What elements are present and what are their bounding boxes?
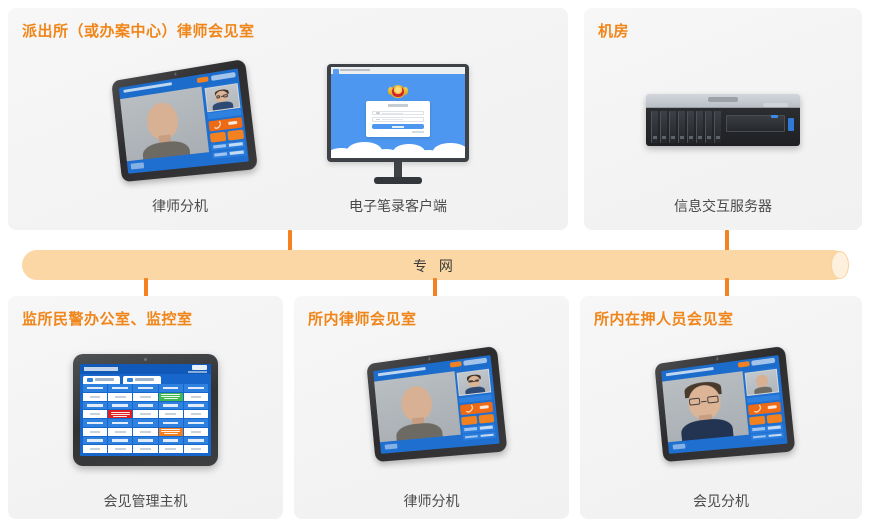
seat-cell[interactable] [184,445,208,453]
remote-name-label [672,443,685,449]
remote-party-video [374,371,461,442]
seat-header[interactable] [83,402,107,410]
seat-cell[interactable] [159,410,183,418]
tablet-device [366,346,507,462]
drive-bay-array [651,111,722,143]
panel-inner-detainee-room: 所内在押人员会见室 [580,296,862,519]
person-head [756,375,769,388]
seat-status-grid [83,384,208,453]
remote-name-label [384,443,397,449]
video-call-sidebar [455,366,500,447]
seat-cell[interactable] [184,393,208,401]
police-emblem-icon [389,82,407,101]
seat-header[interactable] [83,419,107,427]
monitor-frame [327,64,469,162]
seat-cell[interactable] [83,393,107,401]
tablet-screen [118,68,249,174]
seat-cell[interactable] [108,428,132,436]
seat-header[interactable] [108,437,132,445]
seat-header[interactable] [83,384,107,392]
monitor-stand-neck [394,162,403,178]
server-badge-icon [771,115,779,119]
seat-header[interactable] [159,384,183,392]
connector-police-station-up [288,230,292,252]
device-lawyer-extension-bottom: 律师分机 [304,351,559,501]
info-row-remaining [463,432,496,441]
seat-cell[interactable] [108,445,132,453]
seat-header[interactable] [133,402,157,410]
tablet-screen [80,364,211,456]
panel-title-police-station: 派出所（或办案中心）律师会见室 [22,20,255,41]
drive-bay [687,111,694,143]
hangup-label [480,405,489,409]
self-view-thumbnail [457,369,492,396]
monitor-screen [331,67,466,157]
hangup-button[interactable] [748,401,782,414]
remote-person-avatar [676,380,735,442]
login-form [366,101,431,137]
username-field[interactable] [372,111,424,116]
seat-cell-waiting-orange[interactable] [159,428,183,436]
seat-header[interactable] [184,419,208,427]
remote-name-label [131,163,144,170]
drive-bay [660,111,667,143]
app-title [84,367,118,371]
seat-cell[interactable] [83,445,107,453]
device-lawyer-extension-top: 律师分机 [100,60,260,190]
monitor-device [327,64,469,186]
drive-bay [678,111,685,143]
seat-cell[interactable] [133,393,157,401]
tablet-screen [661,355,787,454]
hangup-label [228,121,237,125]
password-field[interactable] [372,117,424,122]
tablet-device [111,59,258,182]
clock-time [192,365,207,369]
seat-header[interactable] [108,419,132,427]
drive-bay [651,111,658,143]
seat-cell[interactable] [159,445,183,453]
forgot-password-link[interactable] [412,131,424,134]
caption-meeting-extension: 会见分机 [590,491,852,511]
tablet-camera-icon [144,358,147,361]
drive-bay [669,111,676,143]
pipe-end-cap [831,251,849,279]
panel-police-station: 派出所（或办案中心）律师会见室 [8,8,568,230]
info-row-remaining [751,432,784,441]
tablet-device [654,346,795,462]
management-tablet-device [73,354,218,466]
video-call-sidebar [743,366,788,447]
cloud-decoration [331,138,466,158]
mute-button[interactable] [749,415,765,425]
panel-title-police-office: 监所民警办公室、监控室 [22,308,193,329]
extend-button[interactable] [767,413,783,423]
seat-header[interactable] [184,402,208,410]
seat-header[interactable] [159,437,183,445]
seat-header[interactable] [133,419,157,427]
panel-machine-room: 机房 信息交互服务器 [584,8,862,230]
seat-cell[interactable] [133,445,157,453]
caption-meeting-management-host: 会见管理主机 [18,491,273,511]
caption-info-exchange-server: 信息交互服务器 [613,196,833,216]
private-network-bus: 专 网 [22,250,848,280]
call-toolbar-label [210,72,235,81]
panel-title-inner-lawyer-room: 所内律师会见室 [308,308,417,329]
phone-hangup-icon [754,404,762,413]
seat-header[interactable] [108,402,132,410]
seat-header[interactable] [184,384,208,392]
seat-cell[interactable] [133,410,157,418]
call-toolbar-label [751,358,775,366]
monitor-stand-base [374,177,422,184]
tab-bar [83,376,208,384]
hangup-label [768,405,777,409]
lock-icon [376,119,380,120]
caption-e-record-client: 电子笔录客户端 [308,196,488,216]
browser-tab-title [340,69,370,71]
extend-button[interactable] [227,130,244,141]
clock-widget [181,365,207,372]
server-top-label [708,97,739,102]
device-meeting-extension: 会见分机 [590,351,852,501]
call-toolbar-label [463,358,487,366]
login-submit-button[interactable] [372,124,424,129]
server-handle [763,103,788,107]
network-label: 专 网 [22,256,848,276]
device-meeting-management-host: 会见管理主机 [18,351,273,501]
seat-header[interactable] [108,384,132,392]
remote-person-avatar [136,99,194,162]
tab-meeting-seats[interactable] [83,376,121,384]
phone-hangup-icon [214,120,223,130]
call-status-badge [738,361,749,368]
hangup-button[interactable] [460,401,494,414]
extend-button[interactable] [479,413,495,423]
device-e-record-client: 电子笔录客户端 [308,60,488,190]
seat-cell-active-green[interactable] [159,393,183,401]
seat-cell[interactable] [184,410,208,418]
seat-cell[interactable] [83,428,107,436]
self-person-avatar [211,88,234,112]
tablet-screen [373,355,499,454]
seat-header[interactable] [133,384,157,392]
seat-header[interactable] [159,419,183,427]
remote-party-video [120,86,210,162]
caption-lawyer-extension-bottom: 律师分机 [304,491,559,511]
connector-machine-room-up [725,230,729,252]
drive-bay [705,111,712,143]
self-person-avatar [752,374,773,396]
caption-lawyer-extension-top: 律师分机 [100,196,260,216]
favicon-icon [333,69,339,75]
mute-button[interactable] [461,415,477,425]
seat-cell-alert-red[interactable] [108,410,132,418]
remote-person-avatar [390,383,446,442]
seat-header[interactable] [184,437,208,445]
browser-titlebar [331,67,466,73]
rack-server-device [646,94,800,146]
seat-header[interactable] [159,402,183,410]
phone-hangup-icon [466,404,474,413]
server-status-led [788,118,794,132]
drive-bay [714,111,721,143]
self-person-avatar [463,374,485,396]
panel-inner-lawyer-room: 所内律师会见室 [294,296,569,519]
seat-header[interactable] [133,437,157,445]
device-info-exchange-server: 信息交互服务器 [613,78,833,190]
call-status-badge [450,361,461,368]
network-topology-diagram: 派出所（或办案中心）律师会见室 [0,0,870,527]
password-placeholder [382,119,403,120]
seat-header[interactable] [83,437,107,445]
self-view-thumbnail [204,83,240,112]
panel-title-machine-room: 机房 [598,20,629,41]
call-status-badge [197,76,209,83]
remote-party-video [662,371,749,442]
app-header [80,364,211,374]
tab-record-query[interactable] [123,376,161,384]
seat-cell[interactable] [108,393,132,401]
clock-date [188,371,207,373]
drive-bay [696,111,703,143]
username-placeholder [382,113,403,114]
seat-cell[interactable] [83,410,107,418]
login-form-title [388,104,409,107]
self-view-thumbnail [745,369,780,396]
seat-cell[interactable] [133,428,157,436]
mute-button[interactable] [209,132,226,143]
seat-cell[interactable] [184,428,208,436]
user-icon [376,112,380,113]
panel-police-office: 监所民警办公室、监控室 [8,296,283,519]
panel-title-inner-detainee-room: 所内在押人员会见室 [594,308,734,329]
